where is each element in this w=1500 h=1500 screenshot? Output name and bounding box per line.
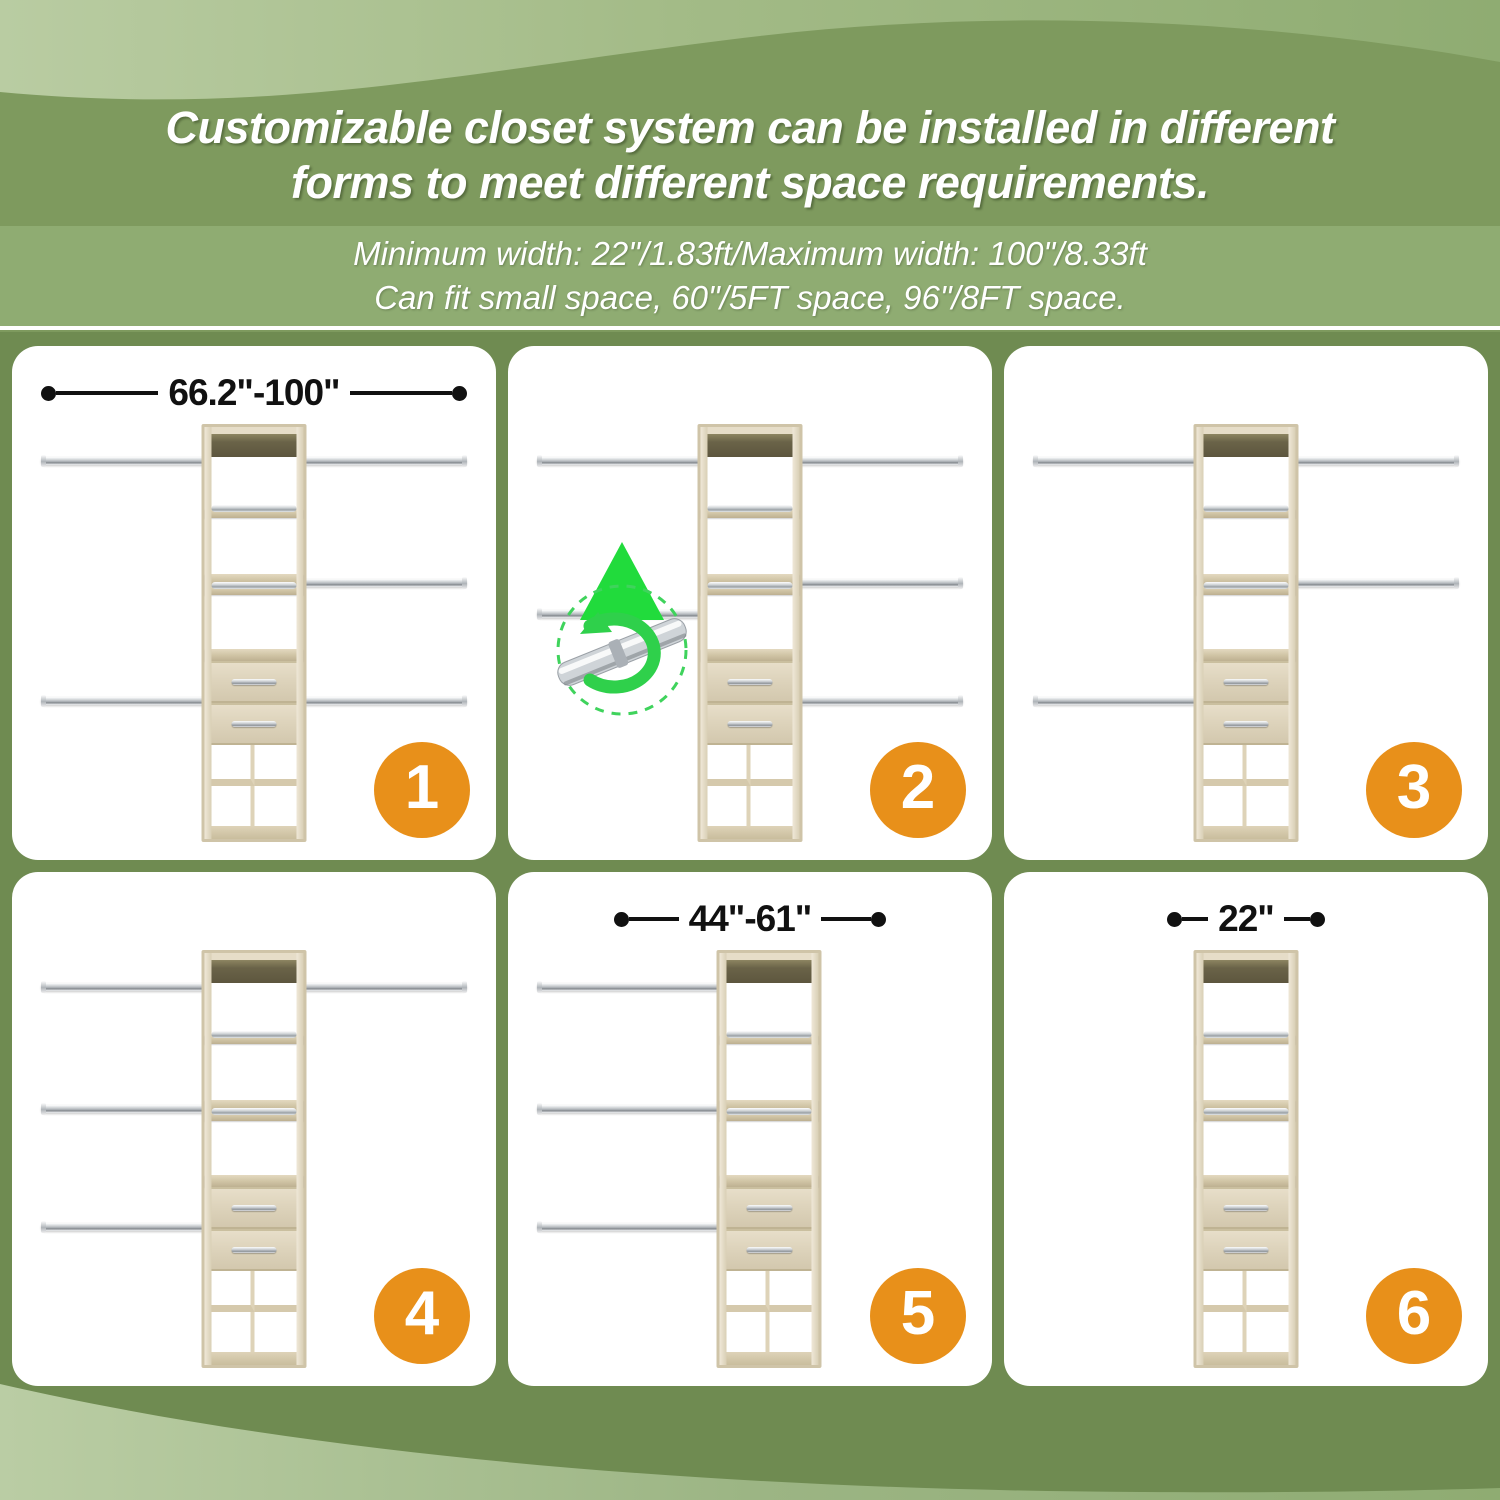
closet-tower <box>202 424 307 842</box>
drawer-handle <box>231 1247 277 1253</box>
tower-carcass <box>1194 424 1299 842</box>
tower-carcass <box>202 950 307 1368</box>
inner-hanging-rod <box>212 582 297 589</box>
drawer-upper[interactable] <box>1197 661 1296 703</box>
cubby-cell <box>205 1271 255 1312</box>
config-panel-1[interactable]: 66.2"-100" <box>12 346 496 860</box>
open-bay <box>1197 983 1296 1035</box>
shelf <box>720 1035 819 1044</box>
open-bay <box>720 983 819 1035</box>
open-bay <box>1197 1121 1296 1175</box>
open-bay <box>205 457 304 509</box>
rotating-rod-feature-icon <box>538 534 708 724</box>
cubby-grid <box>205 1271 304 1352</box>
tower-carcass <box>717 950 822 1368</box>
cubby-cell <box>1197 786 1247 827</box>
tower-sidewall-left <box>205 953 212 1365</box>
cubby-grid <box>1197 1271 1296 1352</box>
inner-hanging-rod <box>212 1108 297 1115</box>
tower-sidewall-right <box>297 427 304 839</box>
tower-sidewall-left <box>205 427 212 839</box>
closet-tower <box>717 950 822 1368</box>
inner-hanging-rod <box>727 1031 812 1038</box>
panel-number-badge-1: 1 <box>374 742 470 838</box>
cubby-cell <box>205 1312 255 1353</box>
shelf <box>205 509 304 518</box>
base-plinth <box>205 1352 304 1365</box>
inner-hanging-rod <box>1204 1031 1289 1038</box>
panel-number: 1 <box>405 757 439 819</box>
panel-number-badge-6: 6 <box>1366 1268 1462 1364</box>
drawer-upper[interactable] <box>720 1187 819 1229</box>
drawer-upper[interactable] <box>205 1187 304 1229</box>
drawer-lower[interactable] <box>205 1229 304 1271</box>
dimension-line-segment <box>350 391 452 395</box>
top-recess-compartment <box>720 953 819 983</box>
dimension-value: 44"-61" <box>679 898 822 940</box>
open-bay <box>1197 457 1296 509</box>
header-title-block: Customizable closet system can be instal… <box>0 86 1500 226</box>
config-panel-4[interactable]: 4 <box>12 872 496 1386</box>
dimension-line-segment <box>821 917 870 921</box>
shelf <box>701 649 800 661</box>
open-bay <box>205 518 304 574</box>
top-recess-compartment <box>1197 427 1296 457</box>
open-bay <box>205 1121 304 1175</box>
open-bay <box>701 595 800 649</box>
dimension-endpoint-dot <box>614 912 629 927</box>
open-bay <box>720 1044 819 1100</box>
shelf <box>1197 1175 1296 1187</box>
tower-sidewall-left <box>1197 427 1204 839</box>
shelf <box>1197 649 1296 661</box>
cubby-grid <box>205 745 304 826</box>
drawer-lower[interactable] <box>205 703 304 745</box>
shelf <box>205 1112 304 1121</box>
header-subtitle-line-2: Can fit small space, 60"/5FT space, 96"/… <box>374 277 1126 319</box>
dimension-endpoint-dot <box>871 912 886 927</box>
closet-tower <box>1194 950 1299 1368</box>
shelf <box>701 586 800 595</box>
cubby-grid <box>1197 745 1296 826</box>
top-recess-compartment <box>205 427 304 457</box>
dimension-value: 66.2"-100" <box>158 372 349 414</box>
cubby-grid <box>720 1271 819 1352</box>
open-bay <box>205 983 304 1035</box>
shelf <box>205 649 304 661</box>
cubby-cell <box>205 786 255 827</box>
panel-number: 4 <box>405 1283 439 1345</box>
shelf <box>205 586 304 595</box>
cubby-cell <box>1197 745 1247 786</box>
panel-number: 3 <box>1397 757 1431 819</box>
closet-tower <box>1194 424 1299 842</box>
config-panel-6[interactable]: 22" <box>1004 872 1488 1386</box>
panel-number: 5 <box>901 1283 935 1345</box>
top-recess-compartment <box>205 953 304 983</box>
dimension-endpoint-dot <box>452 386 467 401</box>
dimension-line-segment <box>1284 917 1310 921</box>
drawer-handle <box>231 1205 277 1211</box>
cubby-grid <box>701 745 800 826</box>
drawer-lower[interactable] <box>701 703 800 745</box>
tower-sidewall-right <box>793 427 800 839</box>
cubby-cell <box>701 786 751 827</box>
config-panel-2[interactable]: 2 <box>508 346 992 860</box>
panel-number-badge-3: 3 <box>1366 742 1462 838</box>
cubby-cell <box>1197 1271 1247 1312</box>
inner-hanging-rod <box>1204 582 1289 589</box>
header-divider-rule <box>0 326 1500 330</box>
base-plinth <box>205 826 304 839</box>
drawer-upper[interactable] <box>205 661 304 703</box>
cubby-cell <box>720 1312 770 1353</box>
open-bay <box>701 518 800 574</box>
drawer-handle <box>1223 1205 1269 1211</box>
dimension-label-panel-5: 44"-61" <box>614 898 885 940</box>
dimension-endpoint-dot <box>1167 912 1182 927</box>
shelf <box>205 1175 304 1187</box>
closet-tower <box>698 424 803 842</box>
config-panel-3[interactable]: 3 <box>1004 346 1488 860</box>
shelf <box>1197 586 1296 595</box>
inner-hanging-rod <box>212 505 297 512</box>
drawer-handle <box>1223 1247 1269 1253</box>
dimension-line-segment <box>629 917 678 921</box>
header-subtitle-line-1: Minimum width: 22"/1.83ft/Maximum width:… <box>353 233 1147 275</box>
tower-sidewall-right <box>1289 427 1296 839</box>
open-bay <box>720 1121 819 1175</box>
shelf <box>1197 509 1296 518</box>
drawer-lower[interactable] <box>1197 703 1296 745</box>
triangle-pointer-icon <box>580 542 664 620</box>
tower-sidewall-left <box>1197 953 1204 1365</box>
drawer-handle <box>231 679 277 685</box>
inner-hanging-rod <box>708 505 793 512</box>
panel-number-badge-2: 2 <box>870 742 966 838</box>
tower-carcass <box>202 424 307 842</box>
base-plinth <box>720 1352 819 1365</box>
cubby-cell <box>701 745 751 786</box>
base-plinth <box>1197 826 1296 839</box>
shelf <box>701 509 800 518</box>
tower-sidewall-right <box>297 953 304 1365</box>
open-bay <box>701 457 800 509</box>
drawer-handle <box>1223 721 1269 727</box>
header-title-line-2: forms to meet different space requiremen… <box>291 156 1209 211</box>
cubby-cell <box>1197 1312 1247 1353</box>
shelf <box>720 1112 819 1121</box>
drawer-handle <box>747 1247 793 1253</box>
shelf <box>205 1035 304 1044</box>
configuration-panel-grid: 66.2"-100" <box>0 336 1500 1396</box>
tower-carcass <box>698 424 803 842</box>
panel-number: 2 <box>901 757 935 819</box>
header-banner: Customizable closet system can be instal… <box>0 0 1500 332</box>
drawer-handle <box>747 1205 793 1211</box>
cubby-cell <box>720 1271 770 1312</box>
header-title-line-1: Customizable closet system can be instal… <box>165 101 1334 156</box>
inner-hanging-rod <box>708 582 793 589</box>
inner-hanging-rod <box>727 1108 812 1115</box>
config-panel-5[interactable]: 44"-61" <box>508 872 992 1386</box>
drawer-upper[interactable] <box>701 661 800 703</box>
open-bay <box>205 595 304 649</box>
top-recess-compartment <box>701 427 800 457</box>
inner-hanging-rod <box>1204 505 1289 512</box>
panel-number: 6 <box>1397 1283 1431 1345</box>
tower-sidewall-left <box>720 953 727 1365</box>
shelf <box>1197 1112 1296 1121</box>
drawer-lower[interactable] <box>720 1229 819 1271</box>
drawer-lower[interactable] <box>1197 1229 1296 1271</box>
open-bay <box>1197 595 1296 649</box>
dimension-endpoint-dot <box>1310 912 1325 927</box>
panel-number-badge-5: 5 <box>870 1268 966 1364</box>
drawer-handle <box>1223 679 1269 685</box>
dimension-line-segment <box>56 391 158 395</box>
drawer-handle <box>231 721 277 727</box>
panel-number-badge-4: 4 <box>374 1268 470 1364</box>
top-recess-compartment <box>1197 953 1296 983</box>
cubby-cell <box>205 745 255 786</box>
drawer-handle <box>727 721 773 727</box>
tower-carcass <box>1194 950 1299 1368</box>
drawer-upper[interactable] <box>1197 1187 1296 1229</box>
base-plinth <box>1197 1352 1296 1365</box>
dimension-line-segment <box>1182 917 1208 921</box>
shelf <box>1197 1035 1296 1044</box>
shelf <box>720 1175 819 1187</box>
dimension-value: 22" <box>1208 898 1284 940</box>
open-bay <box>1197 518 1296 574</box>
drawer-handle <box>727 679 773 685</box>
tower-sidewall-right <box>812 953 819 1365</box>
open-bay <box>1197 1044 1296 1100</box>
closet-tower <box>202 950 307 1368</box>
tower-sidewall-right <box>1289 953 1296 1365</box>
dimension-label-panel-1: 66.2"-100" <box>41 372 467 414</box>
inner-hanging-rod <box>212 1031 297 1038</box>
dimension-label-panel-6: 22" <box>1149 898 1343 940</box>
base-plinth <box>701 826 800 839</box>
header-subtitle-block: Minimum width: 22"/1.83ft/Maximum width:… <box>0 226 1500 326</box>
dimension-endpoint-dot <box>41 386 56 401</box>
inner-hanging-rod <box>1204 1108 1289 1115</box>
open-bay <box>205 1044 304 1100</box>
